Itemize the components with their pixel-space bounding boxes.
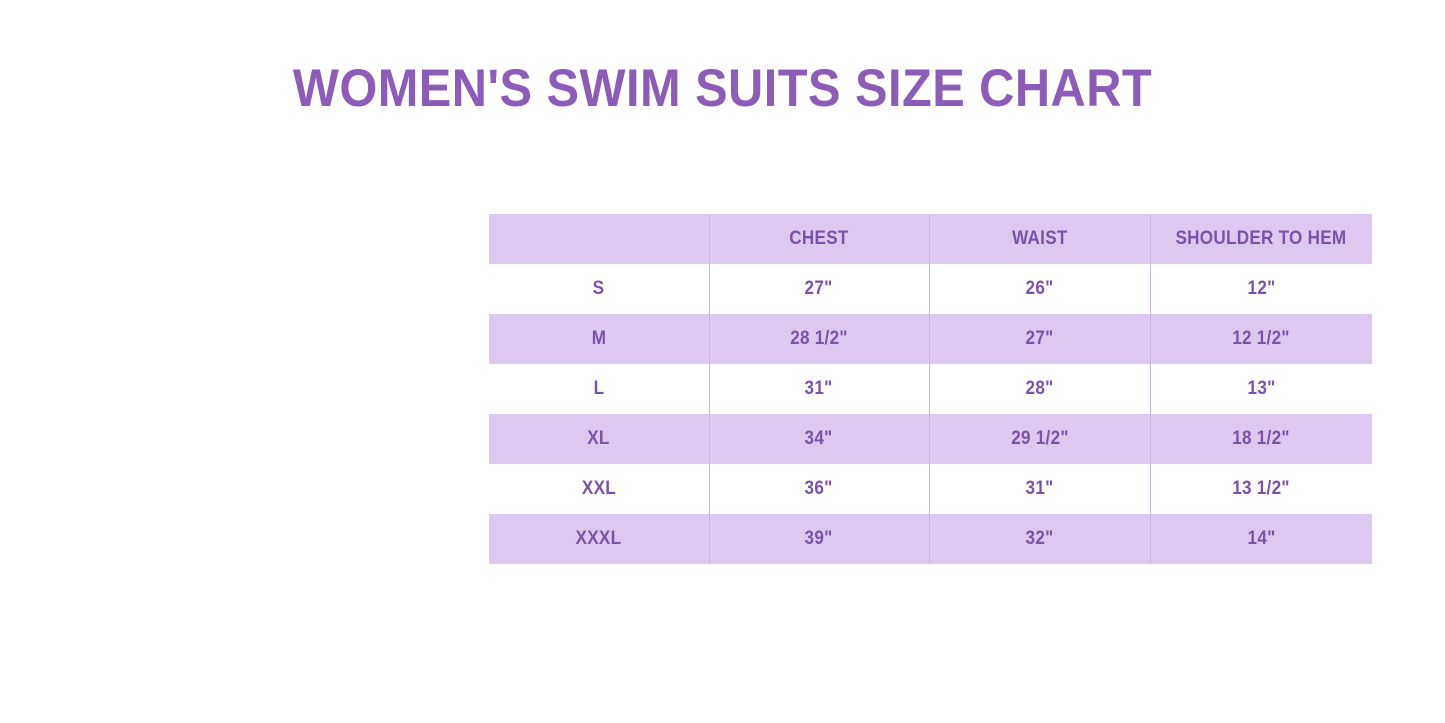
cell-chest: 34" <box>709 414 929 464</box>
column-header-size <box>489 214 709 264</box>
cell-shoulder-to-hem: 12" <box>1150 264 1372 314</box>
column-header-waist: WAIST <box>929 214 1150 264</box>
column-header-chest: CHEST <box>709 214 929 264</box>
cell-chest: 28 1/2" <box>709 314 929 364</box>
column-header-chest-label: CHEST <box>789 228 848 250</box>
cell-waist: 29 1/2" <box>929 414 1150 464</box>
cell-waist: 26" <box>929 264 1150 314</box>
cell-shoulder-to-hem: 18 1/2" <box>1150 414 1372 464</box>
cell-size: L <box>489 364 709 414</box>
page-title: WOMEN'S SWIM SUITS SIZE CHART <box>58 58 1387 120</box>
cell-size: M <box>489 314 709 364</box>
cell-size: XXL <box>489 464 709 514</box>
cell-shoulder-to-hem: 13" <box>1150 364 1372 414</box>
cell-shoulder-to-hem: 12 1/2" <box>1150 314 1372 364</box>
cell-size: XXXL <box>489 514 709 564</box>
size-chart-table: CHEST WAIST SHOULDER TO HEM S 27" 26" 12… <box>489 214 1372 564</box>
cell-waist: 31" <box>929 464 1150 514</box>
cell-size: S <box>489 264 709 314</box>
cell-shoulder-to-hem: 14" <box>1150 514 1372 564</box>
cell-shoulder-to-hem: 13 1/2" <box>1150 464 1372 514</box>
cell-waist: 32" <box>929 514 1150 564</box>
cell-waist: 27" <box>929 314 1150 364</box>
table-row: M 28 1/2" 27" 12 1/2" <box>489 314 1372 364</box>
cell-chest: 36" <box>709 464 929 514</box>
table-row: XXL 36" 31" 13 1/2" <box>489 464 1372 514</box>
column-header-shoulder-to-hem-label: SHOULDER TO HEM <box>1176 228 1347 250</box>
cell-chest: 27" <box>709 264 929 314</box>
table-row: L 31" 28" 13" <box>489 364 1372 414</box>
table-header-row: CHEST WAIST SHOULDER TO HEM <box>489 214 1372 264</box>
column-header-shoulder-to-hem: SHOULDER TO HEM <box>1150 214 1372 264</box>
cell-size: XL <box>489 414 709 464</box>
cell-waist: 28" <box>929 364 1150 414</box>
table-row: S 27" 26" 12" <box>489 264 1372 314</box>
table-row: XXXL 39" 32" 14" <box>489 514 1372 564</box>
cell-chest: 31" <box>709 364 929 414</box>
cell-chest: 39" <box>709 514 929 564</box>
table-row: XL 34" 29 1/2" 18 1/2" <box>489 414 1372 464</box>
column-header-waist-label: WAIST <box>1012 228 1068 250</box>
